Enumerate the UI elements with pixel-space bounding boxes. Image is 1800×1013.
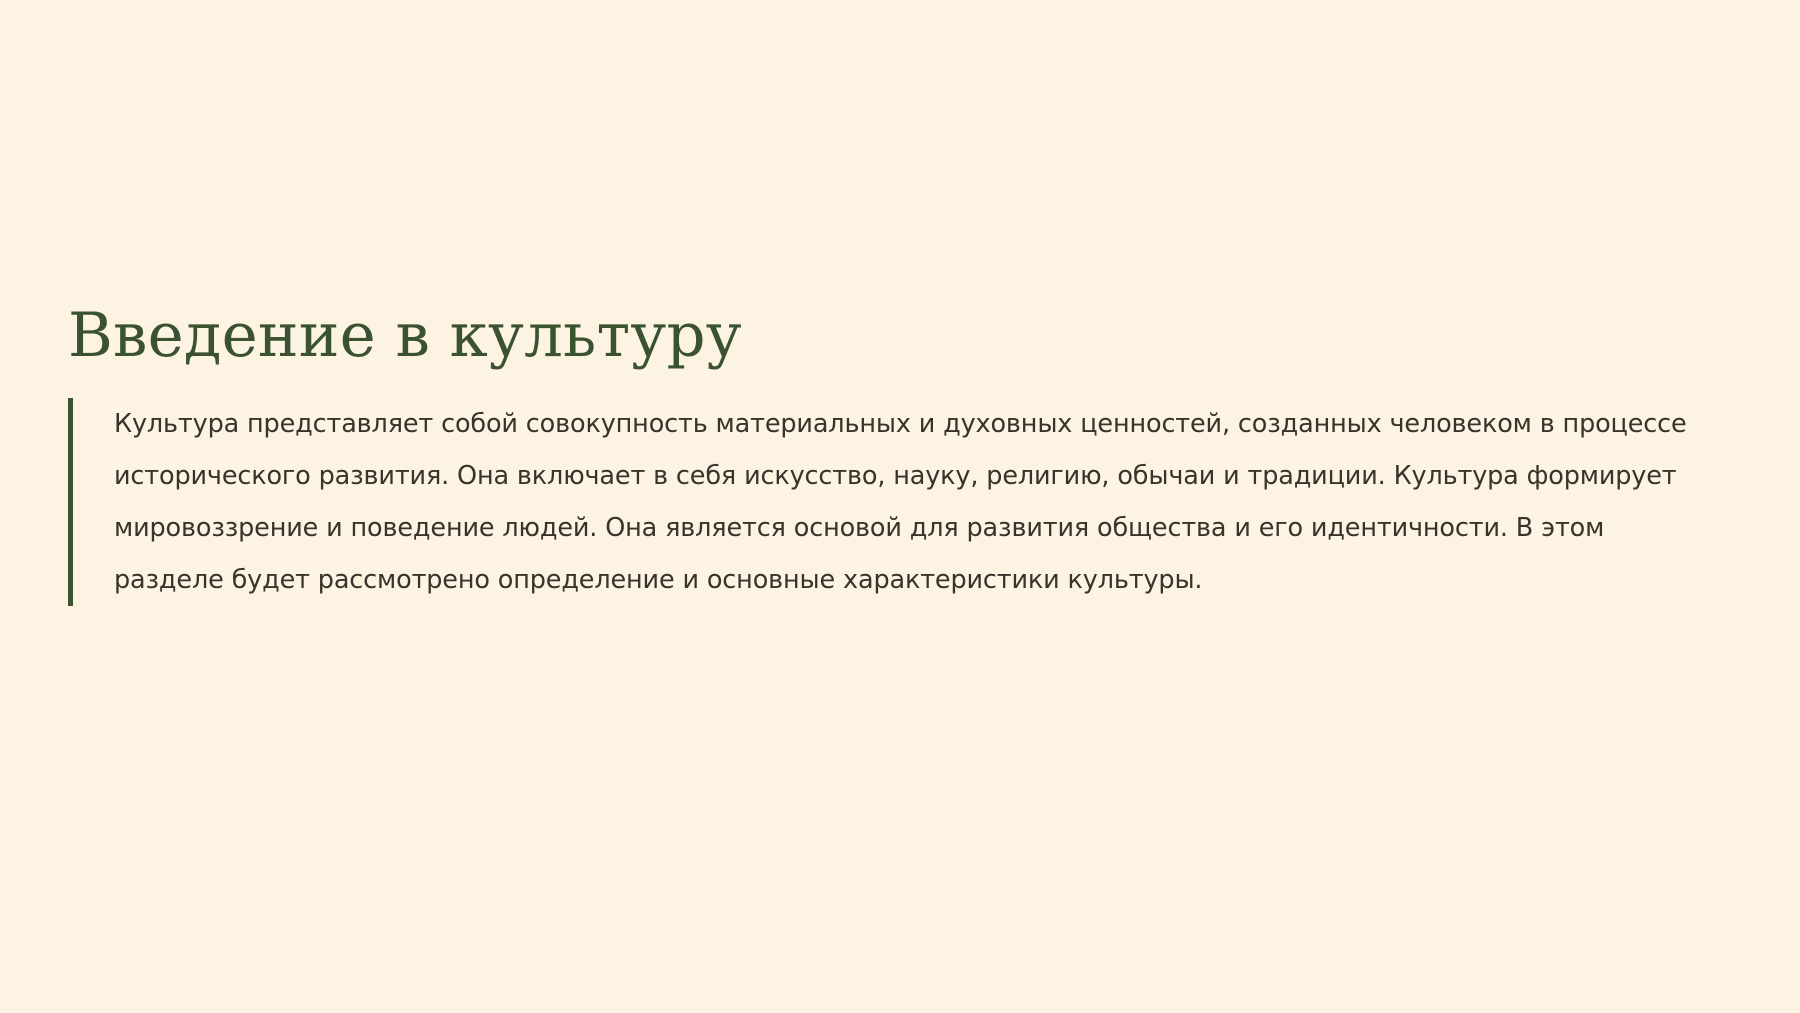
page-title: Введение в культуру (68, 300, 1708, 372)
slide-canvas: Введение в культуру Культура представляе… (0, 0, 1800, 1013)
quote-block: Культура представляет собой совокупность… (68, 398, 1708, 606)
content-block: Введение в культуру Культура представляе… (68, 300, 1708, 606)
left-accent-bar (68, 398, 73, 606)
body-paragraph: Культура представляет собой совокупность… (114, 398, 1708, 606)
